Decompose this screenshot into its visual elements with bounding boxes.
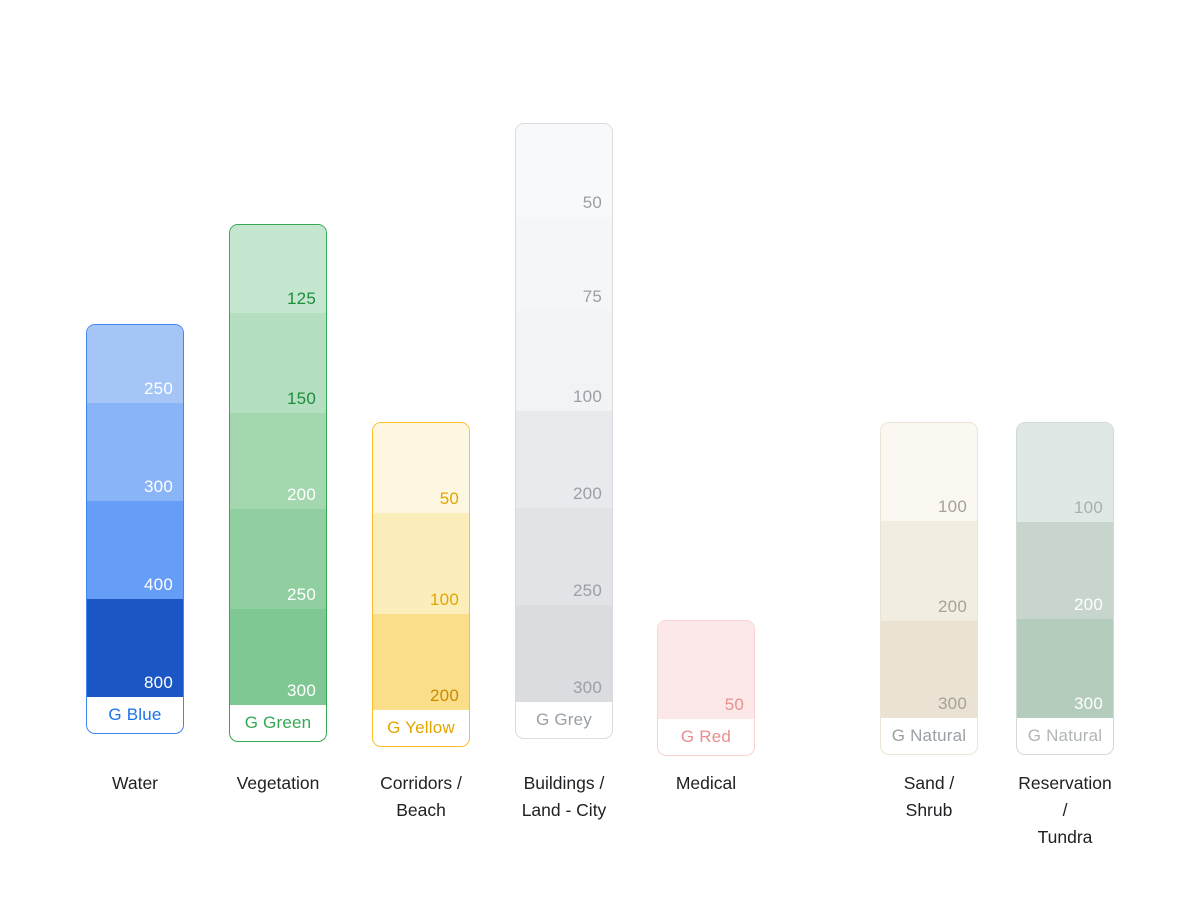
swatch-tone-label: 800 — [144, 674, 173, 693]
palette-family-chip-sand-shrub[interactable]: G Natural — [881, 718, 977, 754]
swatch-tone-label: 200 — [1074, 596, 1103, 615]
swatch-water-400[interactable]: 400 — [87, 501, 183, 599]
swatch-tone-label: 125 — [287, 290, 316, 309]
swatch-tone-label: 300 — [1074, 695, 1103, 714]
palette-caption-medical: Medical — [657, 770, 755, 797]
swatch-stack-medical: 50G Red — [657, 620, 755, 756]
swatch-buildings-land-city-100[interactable]: 100 — [516, 311, 612, 411]
swatch-tone-label: 300 — [573, 679, 602, 698]
swatch-reservation-tundra-300[interactable]: 300 — [1017, 619, 1113, 718]
swatch-buildings-land-city-250[interactable]: 250 — [516, 508, 612, 605]
swatch-vegetation-300[interactable]: 300 — [230, 609, 326, 705]
palette-family-chip-corridors-beach[interactable]: G Yellow — [373, 710, 469, 746]
swatch-stack-water: 250300400800G Blue — [86, 324, 184, 734]
swatch-tone-label: 150 — [287, 390, 316, 409]
palette-family-chip-water[interactable]: G Blue — [87, 697, 183, 733]
palette-caption-buildings-land-city: Buildings / Land - City — [515, 770, 613, 824]
palette-column-water[interactable]: 250300400800G Blue — [86, 324, 184, 734]
swatch-water-250[interactable]: 250 — [87, 325, 183, 403]
swatch-tone-label: 200 — [430, 687, 459, 706]
palette-caption-water: Water — [86, 770, 184, 797]
palette-caption-vegetation: Vegetation — [229, 770, 327, 797]
swatch-tone-label: 50 — [583, 194, 602, 213]
swatch-stack-sand-shrub: 100200300G Natural — [880, 422, 978, 755]
swatch-tone-label: 100 — [573, 388, 602, 407]
swatch-tone-label: 50 — [725, 696, 744, 715]
swatch-corridors-beach-100[interactable]: 100 — [373, 513, 469, 614]
swatch-tone-label: 100 — [1074, 499, 1103, 518]
palette-column-buildings-land-city[interactable]: 5075100200250300G Grey — [515, 123, 613, 739]
swatch-tone-label: 300 — [144, 478, 173, 497]
swatch-tone-label: 100 — [430, 591, 459, 610]
swatch-medical-50[interactable]: 50 — [658, 621, 754, 719]
palette-column-corridors-beach[interactable]: 50100200G Yellow — [372, 422, 470, 747]
swatch-tone-label: 250 — [573, 582, 602, 601]
swatch-stack-corridors-beach: 50100200G Yellow — [372, 422, 470, 747]
swatch-tone-label: 400 — [144, 576, 173, 595]
swatch-buildings-land-city-300[interactable]: 300 — [516, 605, 612, 702]
swatch-tone-label: 75 — [583, 288, 602, 307]
palette-column-medical[interactable]: 50G Red — [657, 620, 755, 756]
swatch-vegetation-150[interactable]: 150 — [230, 313, 326, 413]
swatch-stack-vegetation: 125150200250300G Green — [229, 224, 327, 742]
swatch-sand-shrub-300[interactable]: 300 — [881, 621, 977, 718]
palette-column-reservation-tundra[interactable]: 100200300G Natural — [1016, 422, 1114, 755]
swatch-tone-label: 300 — [938, 695, 967, 714]
palette-caption-sand-shrub: Sand / Shrub — [880, 770, 978, 824]
palette-family-chip-medical[interactable]: G Red — [658, 719, 754, 755]
palette-caption-reservation-tundra: Reservation / Tundra — [1016, 770, 1114, 851]
swatch-vegetation-200[interactable]: 200 — [230, 413, 326, 509]
swatch-corridors-beach-200[interactable]: 200 — [373, 614, 469, 710]
swatch-tone-label: 300 — [287, 682, 316, 701]
swatch-tone-label: 100 — [938, 498, 967, 517]
swatch-tone-label: 200 — [938, 598, 967, 617]
swatch-sand-shrub-100[interactable]: 100 — [881, 423, 977, 521]
swatch-water-300[interactable]: 300 — [87, 403, 183, 501]
swatch-tone-label: 250 — [287, 586, 316, 605]
swatch-tone-label: 50 — [440, 490, 459, 509]
swatch-buildings-land-city-200[interactable]: 200 — [516, 411, 612, 508]
swatch-tone-label: 200 — [287, 486, 316, 505]
swatch-stack-buildings-land-city: 5075100200250300G Grey — [515, 123, 613, 739]
color-palette-board: 250300400800G BlueWater125150200250300G … — [0, 0, 1200, 910]
swatch-tone-label: 250 — [144, 380, 173, 399]
swatch-reservation-tundra-200[interactable]: 200 — [1017, 522, 1113, 619]
swatch-vegetation-125[interactable]: 125 — [230, 225, 326, 313]
swatch-vegetation-250[interactable]: 250 — [230, 509, 326, 609]
palette-column-vegetation[interactable]: 125150200250300G Green — [229, 224, 327, 742]
palette-column-sand-shrub[interactable]: 100200300G Natural — [880, 422, 978, 755]
swatch-stack-reservation-tundra: 100200300G Natural — [1016, 422, 1114, 755]
swatch-sand-shrub-200[interactable]: 200 — [881, 521, 977, 621]
palette-family-chip-reservation-tundra[interactable]: G Natural — [1017, 718, 1113, 754]
palette-family-chip-buildings-land-city[interactable]: G Grey — [516, 702, 612, 738]
swatch-reservation-tundra-100[interactable]: 100 — [1017, 423, 1113, 522]
swatch-water-800[interactable]: 800 — [87, 599, 183, 697]
swatch-corridors-beach-50[interactable]: 50 — [373, 423, 469, 513]
swatch-buildings-land-city-75[interactable]: 75 — [516, 217, 612, 311]
palette-family-chip-vegetation[interactable]: G Green — [230, 705, 326, 741]
swatch-tone-label: 200 — [573, 485, 602, 504]
palette-caption-corridors-beach: Corridors / Beach — [372, 770, 470, 824]
swatch-buildings-land-city-50[interactable]: 50 — [516, 124, 612, 217]
